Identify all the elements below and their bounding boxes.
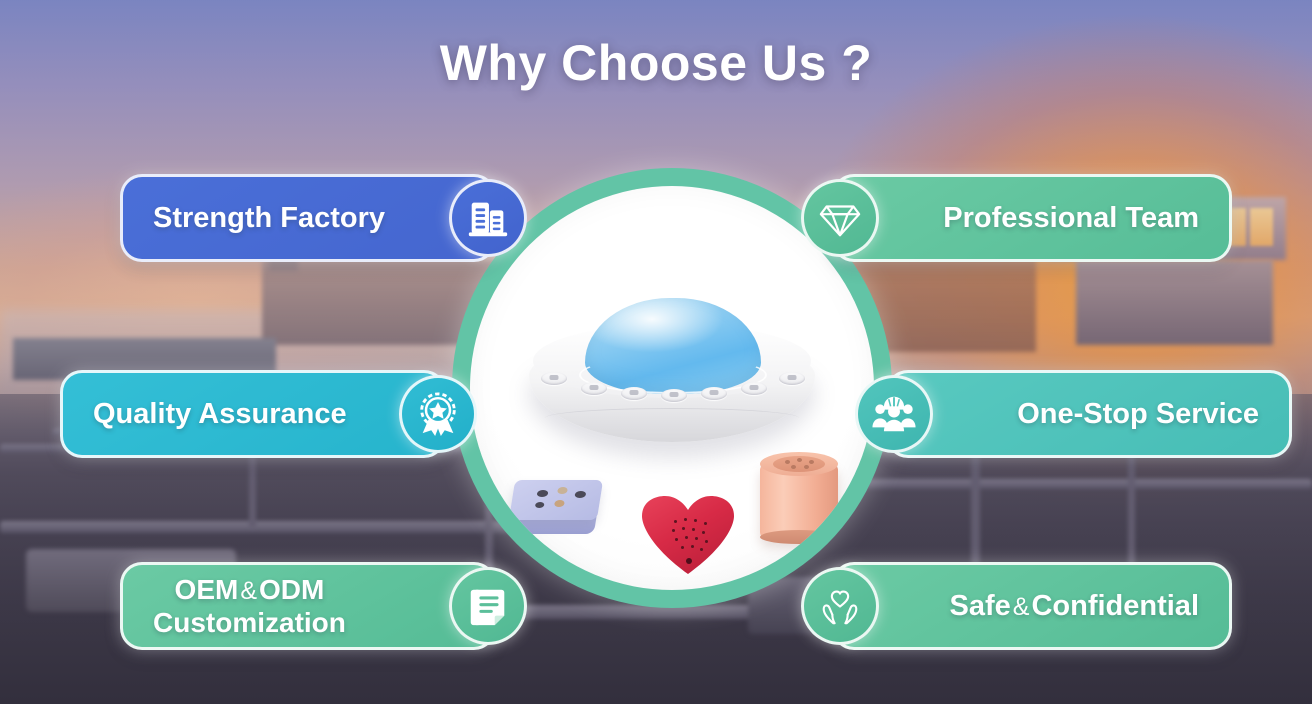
product-button xyxy=(661,389,687,402)
feature-safe-confidential[interactable]: Safe&Confidential xyxy=(832,562,1232,650)
feature-label: Quality Assurance xyxy=(63,398,439,430)
product-button xyxy=(621,387,647,400)
award-medal-icon xyxy=(399,375,477,453)
product-button xyxy=(701,387,727,400)
feature-label: OEM&ODM Customization xyxy=(123,573,438,640)
feature-label-ampersand: & xyxy=(238,577,259,605)
feature-label: Strength Factory xyxy=(123,202,477,234)
factory-building-icon xyxy=(449,179,527,257)
feature-strength-factory[interactable]: Strength Factory xyxy=(120,174,496,262)
product-button xyxy=(741,382,767,395)
feature-professional-team[interactable]: Professional Team xyxy=(832,174,1232,262)
product-heart-speaker xyxy=(642,488,734,574)
product-peach-cylinder xyxy=(760,452,838,544)
feature-label-oem: OEM xyxy=(175,574,239,605)
feature-label: One-Stop Service xyxy=(925,398,1289,430)
hands-holding-heart-icon xyxy=(801,567,879,645)
product-button xyxy=(581,382,607,395)
product-control-buttons xyxy=(539,362,805,398)
feature-quality-assurance[interactable]: Quality Assurance xyxy=(60,370,446,458)
document-scroll-icon xyxy=(449,567,527,645)
team-helmet-icon xyxy=(855,375,933,453)
infographic-stage: Why Choose Us ? xyxy=(0,0,1312,704)
page-title: Why Choose Us ? xyxy=(0,34,1312,92)
feature-label: Professional Team xyxy=(851,202,1229,234)
feature-one-stop-service[interactable]: One-Stop Service xyxy=(886,370,1292,458)
product-lavender-module xyxy=(508,480,604,542)
product-seam xyxy=(545,408,799,428)
feature-label: Safe&Confidential xyxy=(858,590,1230,622)
feature-label-safe: Safe xyxy=(950,590,1011,622)
feature-label-confidential: Confidential xyxy=(1031,590,1199,622)
product-button xyxy=(541,372,567,385)
feature-label-customization: Customization xyxy=(153,607,346,638)
feature-label-odm: ODM xyxy=(259,574,324,605)
diamond-icon xyxy=(801,179,879,257)
product-sound-machine xyxy=(529,298,815,448)
feature-oem-odm-customization[interactable]: OEM&ODM Customization xyxy=(120,562,496,650)
product-button xyxy=(779,372,805,385)
feature-label-ampersand: & xyxy=(1011,593,1032,621)
